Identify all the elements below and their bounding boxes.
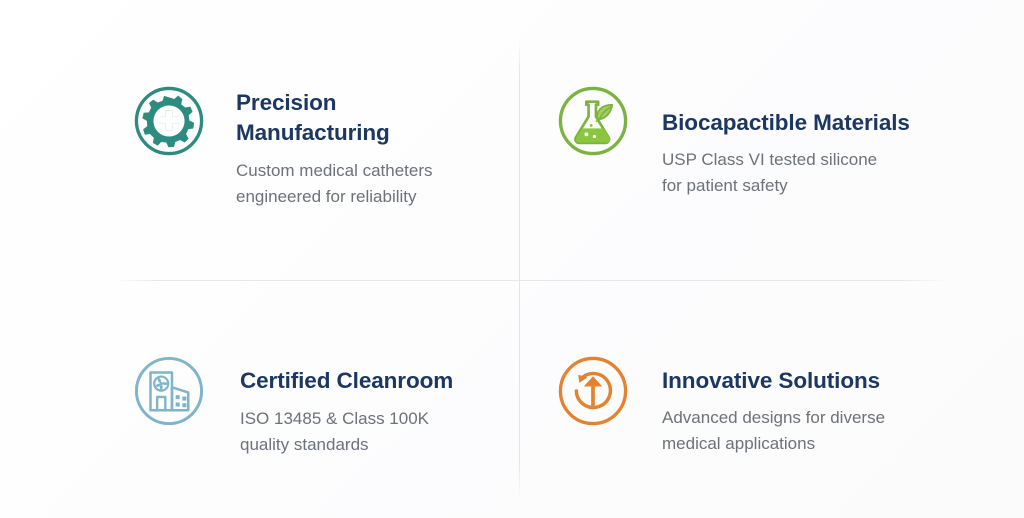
card-body: Biocapactible Materials USP Class VI tes… (630, 82, 910, 199)
circular-arrow-up-icon (556, 354, 630, 428)
cleanroom-building-icon (132, 354, 206, 428)
feature-card-precision-manufacturing[interactable]: Precision Manufacturing Custom medical c… (132, 82, 502, 210)
feature-title: Precision Manufacturing (236, 88, 433, 148)
gear-medical-cross-icon (132, 84, 206, 158)
feature-description: ISO 13485 & Class 100K quality standards (240, 406, 453, 458)
feature-description: USP Class VI tested silicone for patient… (662, 147, 910, 199)
horizontal-divider (114, 280, 946, 281)
feature-title: Innovative Solutions (662, 366, 885, 396)
card-body: Innovative Solutions Advanced designs fo… (630, 352, 885, 457)
flask-leaf-icon (556, 84, 630, 158)
card-body: Certified Cleanroom ISO 13485 & Class 10… (206, 352, 453, 458)
feature-description: Custom medical catheters engineered for … (236, 158, 433, 210)
feature-description: Advanced designs for diverse medical app… (662, 405, 885, 457)
feature-card-innovative-solutions[interactable]: Innovative Solutions Advanced designs fo… (556, 352, 956, 457)
feature-card-certified-cleanroom[interactable]: Certified Cleanroom ISO 13485 & Class 10… (132, 352, 502, 458)
feature-card-biocapactible-materials[interactable]: Biocapactible Materials USP Class VI tes… (556, 82, 956, 199)
feature-title: Certified Cleanroom (240, 366, 453, 396)
vertical-divider (519, 38, 520, 500)
card-body: Precision Manufacturing Custom medical c… (206, 82, 433, 210)
feature-title: Biocapactible Materials (662, 108, 910, 138)
feature-grid: Precision Manufacturing Custom medical c… (0, 0, 1024, 518)
